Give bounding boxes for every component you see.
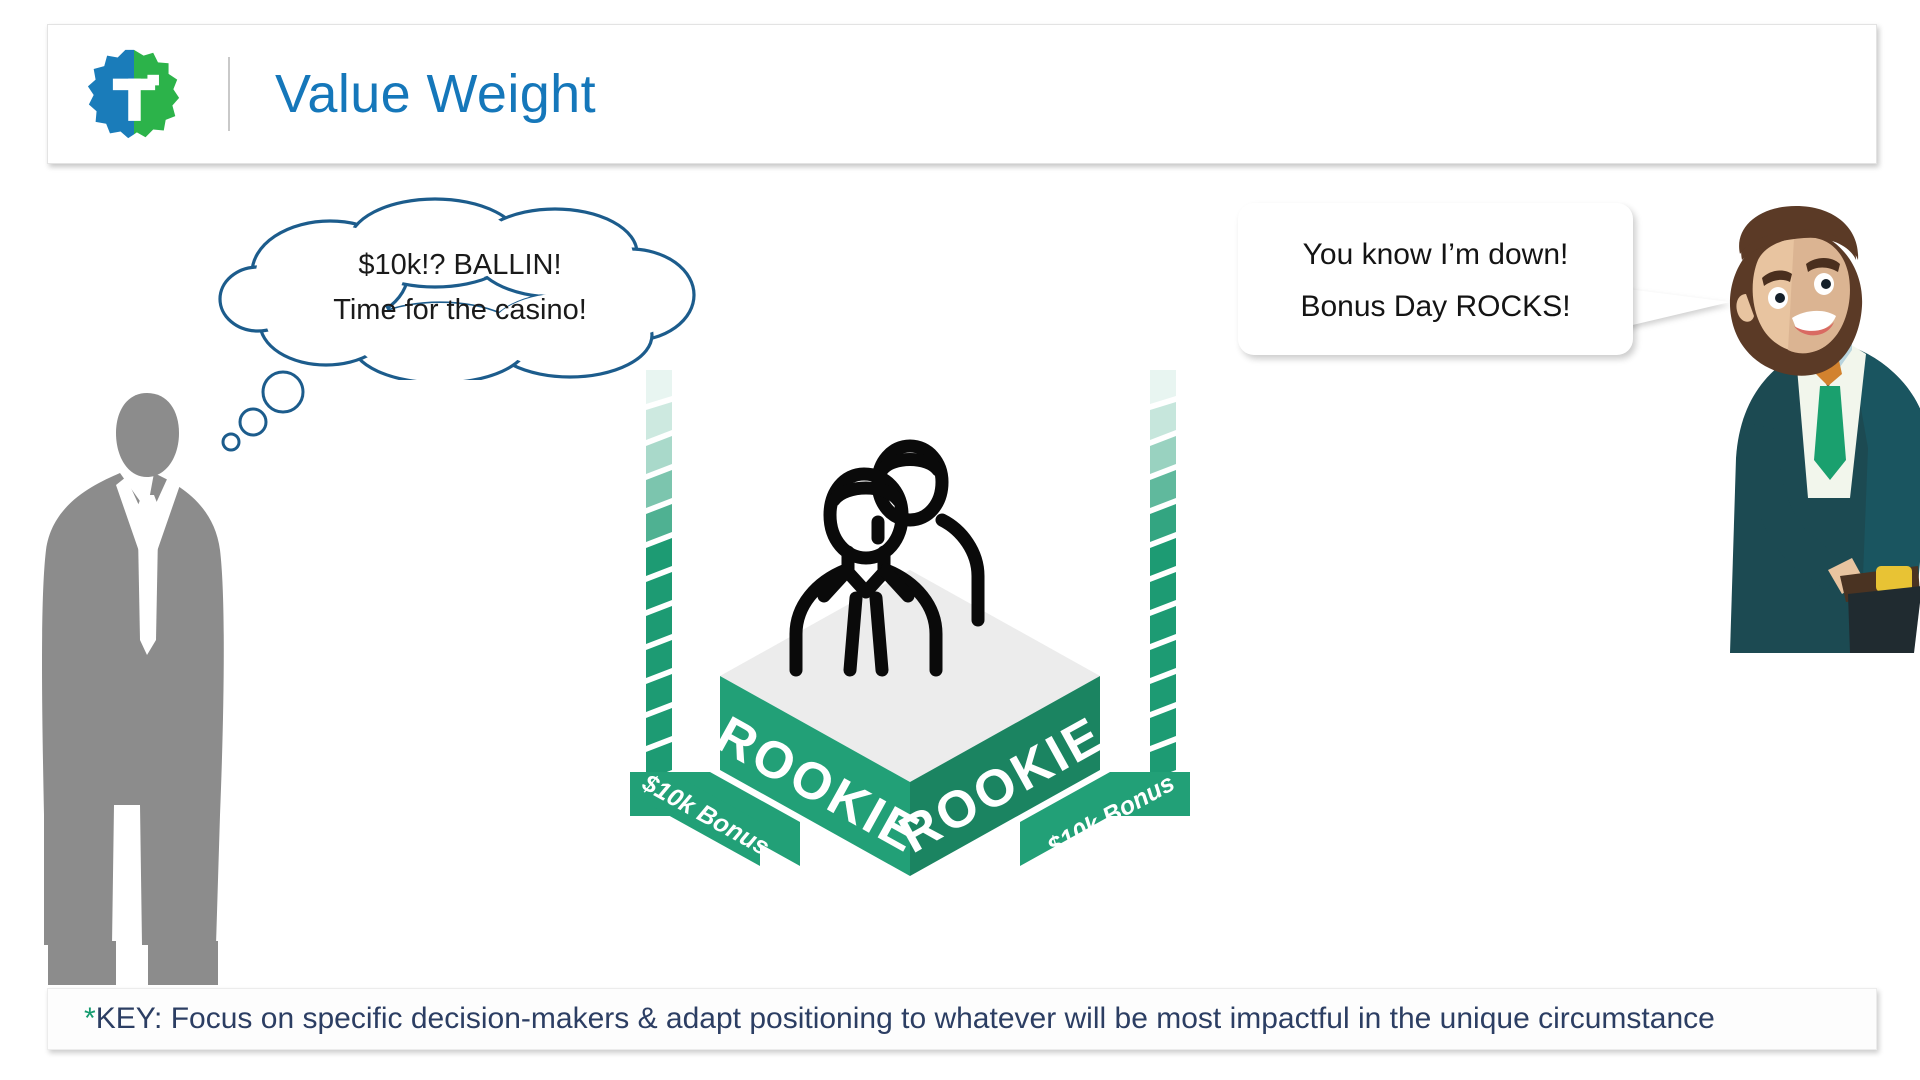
speech-bubble-tail xyxy=(1620,288,1730,328)
key-asterisk: * xyxy=(84,1002,96,1035)
speech-bubble-text: You know I’m down! Bonus Day ROCKS! xyxy=(1238,229,1633,332)
gray-businessman-silhouette xyxy=(30,385,325,985)
thought-bubble-rookie-left: $10k!? BALLIN! Time for the casino! xyxy=(200,195,710,380)
header-divider xyxy=(228,57,230,131)
thought-line-1: $10k!? BALLIN! xyxy=(260,243,660,288)
key-takeaway-text: *KEY: Focus on specific decision-makers … xyxy=(84,1002,1715,1036)
thought-line-2: Time for the casino! xyxy=(260,288,660,333)
chevron-column-left xyxy=(646,370,672,814)
bearded-businessman-illustration xyxy=(1700,198,1920,653)
speech-line-2: Bonus Day ROCKS! xyxy=(1238,281,1633,333)
key-message: KEY: Focus on specific decision-makers &… xyxy=(96,1002,1715,1035)
chevron-column-right xyxy=(1150,370,1176,814)
gear-icon xyxy=(86,46,182,142)
thought-bubble-text: $10k!? BALLIN! Time for the casino! xyxy=(260,243,660,333)
slide-header: Value Weight xyxy=(47,24,1877,164)
slide-canvas: Value Weight xyxy=(0,0,1920,1080)
speech-line-1: You know I’m down! xyxy=(1238,229,1633,281)
ts-gear-logo xyxy=(86,46,182,142)
thought-trail-bubbles xyxy=(215,370,325,470)
page-title: Value Weight xyxy=(275,63,596,125)
speech-bubble-rookie-right: You know I’m down! Bonus Day ROCKS! xyxy=(1238,203,1633,355)
isometric-rookie-box: ROOKIE ROOKIE $10k Bonus $10k Bonus xyxy=(610,370,1330,950)
key-takeaway-bar: *KEY: Focus on specific decision-makers … xyxy=(47,988,1877,1050)
